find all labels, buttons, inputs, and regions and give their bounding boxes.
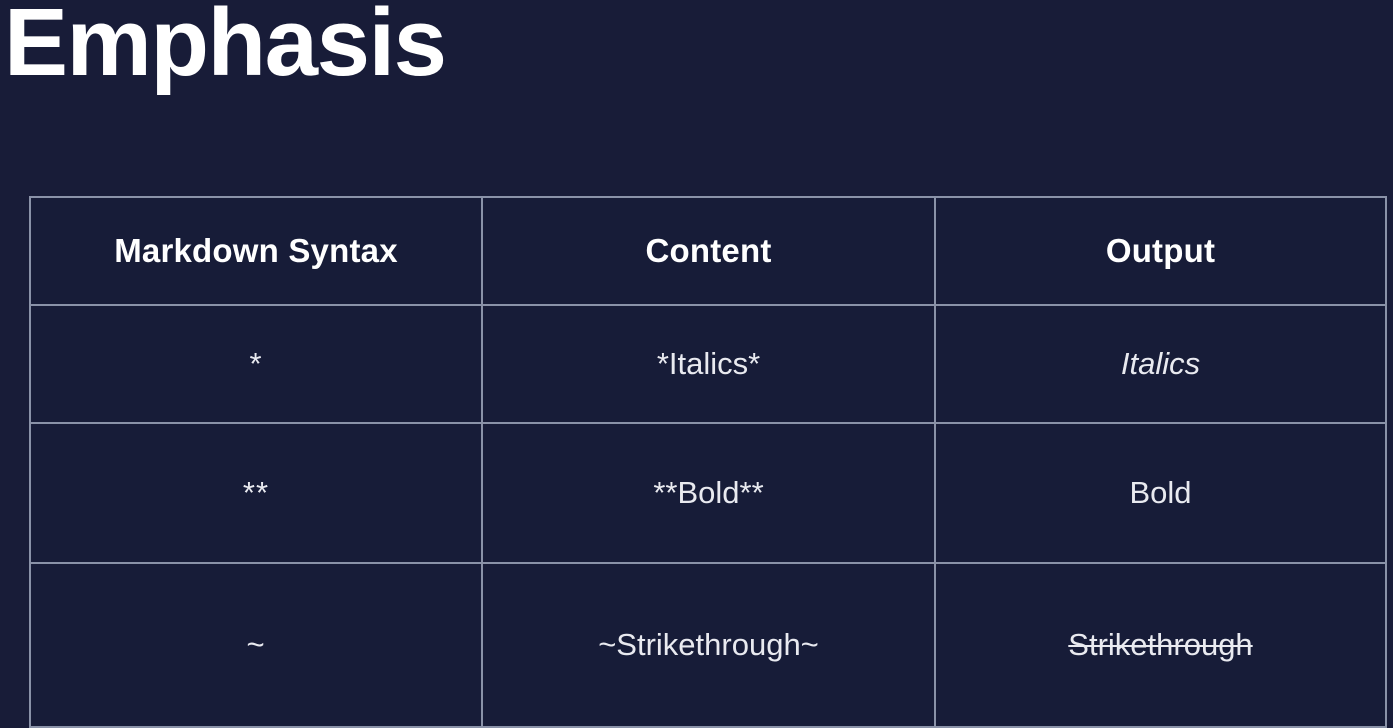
cell-output-italics: Italics [935,305,1386,423]
cell-content-strikethrough: ~Strikethrough~ [482,563,935,727]
table-row: ** **Bold** Bold [30,423,1386,563]
cell-syntax-bold: ** [30,423,482,563]
cell-syntax-strikethrough: ~ [30,563,482,727]
slide-emphasis: Emphasis Markdown Syntax Content Output … [0,0,1393,727]
cell-syntax-italics: * [30,305,482,423]
cell-content-bold: **Bold** [482,423,935,563]
table-row: ~ ~Strikethrough~ Strikethrough [30,563,1386,727]
column-header-content: Content [482,197,935,305]
table-row: * *Italics* Italics [30,305,1386,423]
cell-output-bold: Bold [935,423,1386,563]
page-title: Emphasis [4,0,446,98]
table-header-row: Markdown Syntax Content Output [30,197,1386,305]
cell-output-strikethrough: Strikethrough [935,563,1386,727]
column-header-markdown-syntax: Markdown Syntax [30,197,482,305]
column-header-output: Output [935,197,1386,305]
markdown-emphasis-table: Markdown Syntax Content Output * *Italic… [29,196,1387,728]
cell-content-italics: *Italics* [482,305,935,423]
